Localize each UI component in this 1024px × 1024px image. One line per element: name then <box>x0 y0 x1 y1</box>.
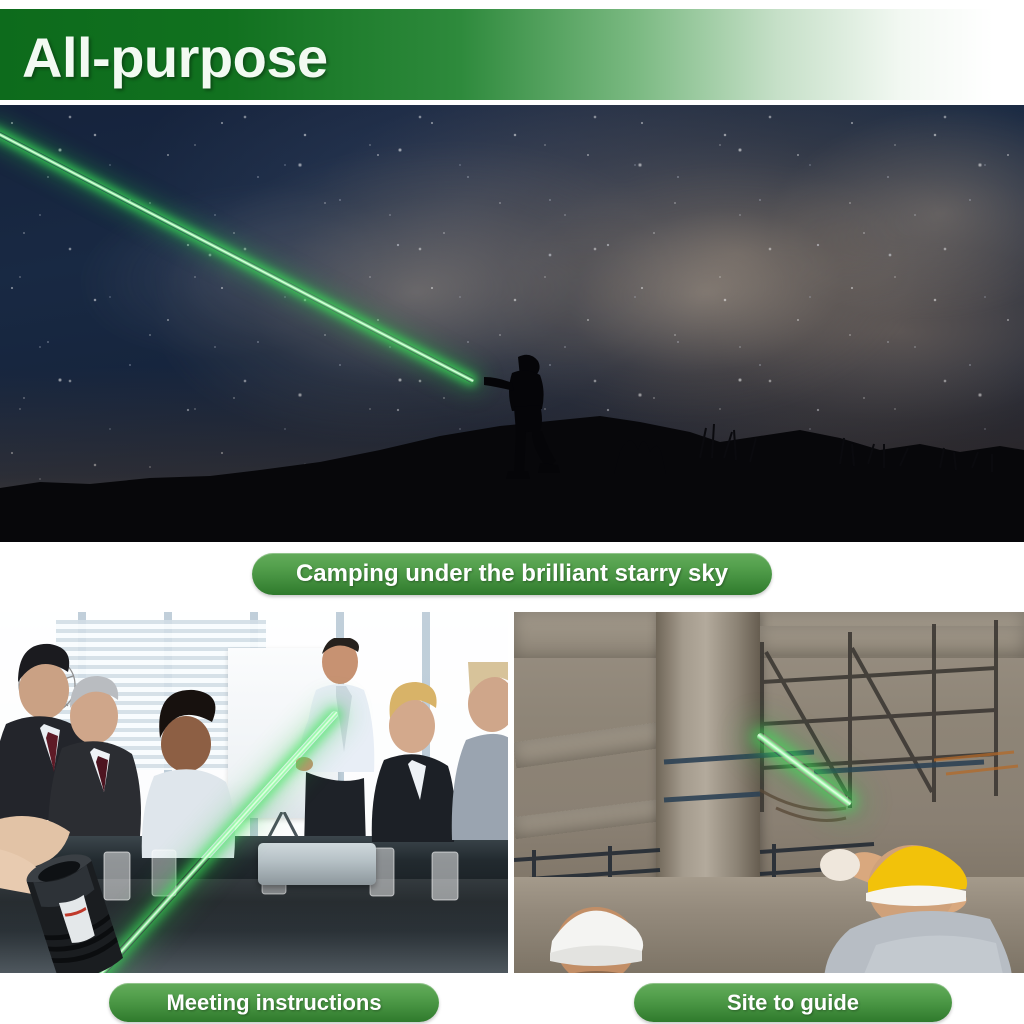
hero-caption-text: Camping under the brilliant starry sky <box>296 560 728 588</box>
caption-pill-meeting: Meeting instructions <box>109 983 439 1022</box>
panel-construction-site <box>514 612 1024 973</box>
header-banner: All-purpose <box>0 9 1024 100</box>
projector-device <box>258 843 376 885</box>
caption-pill-site: Site to guide <box>634 983 952 1022</box>
page-title: All-purpose <box>22 23 328 93</box>
caption-text-meeting: Meeting instructions <box>166 990 381 1016</box>
hero-caption-pill: Camping under the brilliant starry sky <box>252 553 772 595</box>
hero-image-night-sky <box>0 105 1024 542</box>
worker-with-yellow-helmet <box>716 769 1016 973</box>
caption-text-site: Site to guide <box>727 990 859 1016</box>
product-infographic: All-purpose <box>0 0 1024 1024</box>
panel-boardroom: A B C D <box>0 612 508 973</box>
worker-with-white-helmet <box>526 877 666 973</box>
camper-silhouette <box>478 349 578 489</box>
bottom-image-row: A B C D <box>0 612 1024 973</box>
